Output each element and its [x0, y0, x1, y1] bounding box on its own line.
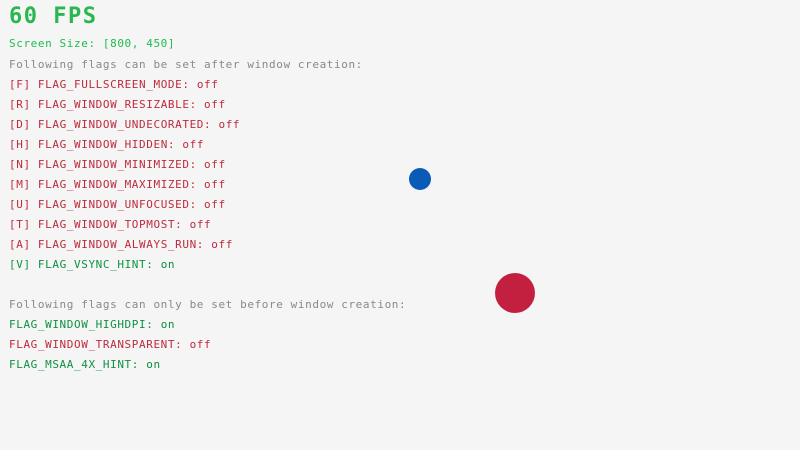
blue-circle [409, 168, 431, 190]
flag-value: on [146, 358, 160, 371]
flag-row: FLAG_WINDOW_HIGHDPI: on [9, 319, 509, 339]
flag-value: off [190, 218, 212, 231]
flag-name: FLAG_WINDOW_HIDDEN: [38, 138, 175, 151]
flag-name: FLAG_WINDOW_MINIMIZED: [38, 158, 197, 171]
flag-value: off [204, 178, 226, 191]
flag-shortcut-key: [H] [9, 138, 31, 151]
flag-name: FLAG_WINDOW_UNDECORATED: [38, 118, 211, 131]
raylib-window-canvas: 60 FPS Screen Size: [800, 450] Following… [0, 0, 800, 450]
flag-value: off [190, 338, 212, 351]
flag-name: FLAG_WINDOW_UNFOCUSED: [38, 198, 197, 211]
red-circle [495, 273, 535, 313]
flag-list-before-creation: FLAG_WINDOW_HIGHDPI: onFLAG_WINDOW_TRANS… [9, 319, 509, 379]
flag-list-after-creation: [F] FLAG_FULLSCREEN_MODE: off[R] FLAG_WI… [9, 79, 509, 279]
flag-value: off [204, 98, 226, 111]
flag-row[interactable]: [N] FLAG_WINDOW_MINIMIZED: off [9, 159, 509, 179]
flag-row[interactable]: [V] FLAG_VSYNC_HINT: on [9, 259, 509, 279]
flag-row[interactable]: [T] FLAG_WINDOW_TOPMOST: off [9, 219, 509, 239]
fps-counter: 60 FPS [9, 6, 97, 28]
flag-value: off [204, 198, 226, 211]
flag-row[interactable]: [A] FLAG_WINDOW_ALWAYS_RUN: off [9, 239, 509, 259]
flag-shortcut-key: [D] [9, 118, 31, 131]
flag-name: FLAG_VSYNC_HINT: [38, 258, 154, 271]
flag-shortcut-key: [F] [9, 78, 31, 91]
section-heading-after-creation: Following flags can be set after window … [9, 59, 363, 70]
flag-value: on [161, 258, 175, 271]
flag-row[interactable]: [F] FLAG_FULLSCREEN_MODE: off [9, 79, 509, 99]
flag-value: off [197, 78, 219, 91]
flag-name: FLAG_WINDOW_MAXIMIZED: [38, 178, 197, 191]
flag-shortcut-key: [T] [9, 218, 31, 231]
flag-row[interactable]: [D] FLAG_WINDOW_UNDECORATED: off [9, 119, 509, 139]
flag-name: FLAG_WINDOW_HIGHDPI: [9, 318, 153, 331]
flag-shortcut-key: [N] [9, 158, 31, 171]
flag-value: off [211, 238, 233, 251]
flag-value: off [182, 138, 204, 151]
flag-name: FLAG_WINDOW_RESIZABLE: [38, 98, 197, 111]
flag-value: on [161, 318, 175, 331]
flag-name: FLAG_FULLSCREEN_MODE: [38, 78, 190, 91]
flag-row: FLAG_MSAA_4X_HINT: on [9, 359, 509, 379]
flag-shortcut-key: [A] [9, 238, 31, 251]
flag-name: FLAG_MSAA_4X_HINT: [9, 358, 139, 371]
flag-name: FLAG_WINDOW_TRANSPARENT: [9, 338, 182, 351]
flag-row[interactable]: [M] FLAG_WINDOW_MAXIMIZED: off [9, 179, 509, 199]
screen-size-label: Screen Size: [800, 450] [9, 38, 175, 49]
flag-shortcut-key: [R] [9, 98, 31, 111]
flag-row[interactable]: [R] FLAG_WINDOW_RESIZABLE: off [9, 99, 509, 119]
flag-row[interactable]: [U] FLAG_WINDOW_UNFOCUSED: off [9, 199, 509, 219]
flag-shortcut-key: [U] [9, 198, 31, 211]
flag-name: FLAG_WINDOW_TOPMOST: [38, 218, 182, 231]
flag-row: FLAG_WINDOW_TRANSPARENT: off [9, 339, 509, 359]
flag-name: FLAG_WINDOW_ALWAYS_RUN: [38, 238, 204, 251]
flag-value: off [204, 158, 226, 171]
section-heading-before-creation: Following flags can only be set before w… [9, 299, 406, 310]
flag-shortcut-key: [M] [9, 178, 31, 191]
flag-value: off [218, 118, 240, 131]
flag-shortcut-key: [V] [9, 258, 31, 271]
flag-row[interactable]: [H] FLAG_WINDOW_HIDDEN: off [9, 139, 509, 159]
